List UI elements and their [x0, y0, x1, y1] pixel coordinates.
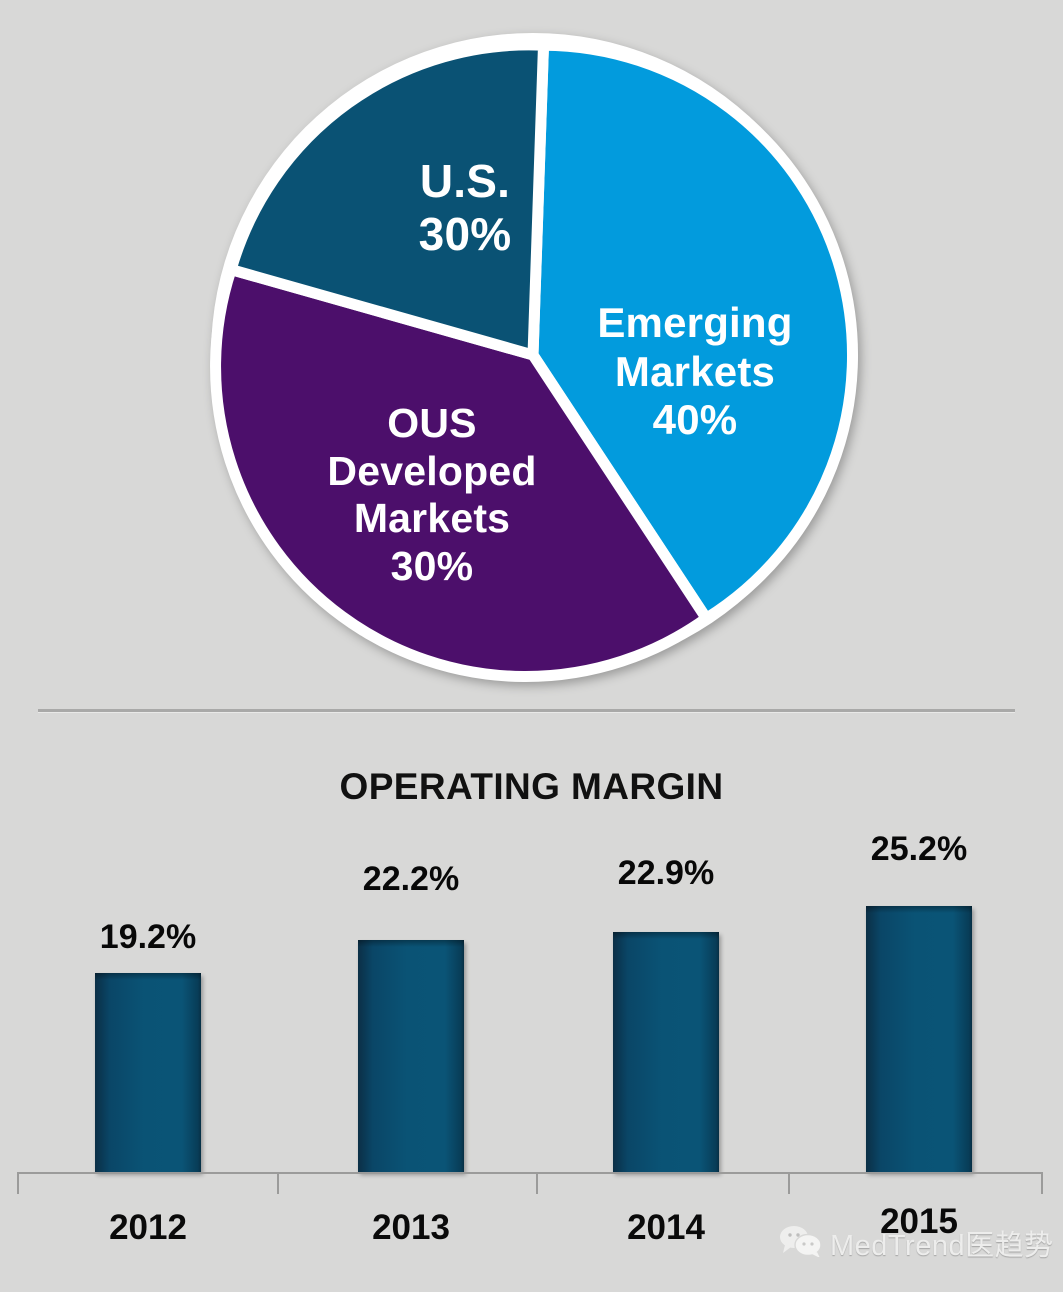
pie-label-emerging-line1: Emerging — [560, 299, 830, 348]
pie-label-us: U.S. 30% — [355, 155, 575, 262]
pie-label-ous-percent: 30% — [297, 543, 567, 591]
x-axis-label-2013: 2013 — [331, 1208, 491, 1248]
pie-label-us-percent: 30% — [355, 208, 575, 261]
pie-label-emerging-markets: Emerging Markets 40% — [560, 299, 830, 445]
x-axis-line — [17, 1172, 1043, 1174]
bar-value-2014: 22.9% — [586, 854, 746, 893]
x-axis-tick — [1041, 1172, 1043, 1194]
x-axis-tick — [536, 1172, 538, 1194]
bar-2014[interactable] — [613, 932, 719, 1172]
wechat-bubbles-icon — [779, 1225, 823, 1262]
x-axis-label-2014: 2014 — [586, 1208, 746, 1248]
pie-label-ous-line2: Developed — [297, 448, 567, 496]
bar-chart-plot: 19.2% 22.2% 22.9% 25.2% 2 — [0, 720, 1063, 1292]
x-axis-label-2012: 2012 — [68, 1208, 228, 1248]
pie-label-ous-line1: OUS — [297, 400, 567, 448]
bar-top-shade — [358, 940, 464, 947]
bar-2013[interactable] — [358, 940, 464, 1172]
bar-2012[interactable] — [95, 973, 201, 1172]
section-divider — [38, 709, 1015, 712]
x-axis-tick — [17, 1172, 19, 1194]
bar-value-2012: 19.2% — [68, 918, 228, 957]
pie-label-us-name: U.S. — [355, 155, 575, 208]
pie-label-emerging-line2: Markets — [560, 348, 830, 397]
watermark-text: MedTrend医趋势 — [830, 1222, 1054, 1264]
watermark: MedTrend医趋势 — [779, 1222, 1054, 1264]
bar-2015[interactable] — [866, 906, 972, 1172]
pie-label-emerging-percent: 40% — [560, 396, 830, 445]
infographic-page: U.S. 30% Emerging Markets 40% OUS Develo… — [0, 0, 1063, 1292]
bar-top-shade — [95, 973, 201, 980]
bar-top-shade — [866, 906, 972, 913]
bar-value-2013: 22.2% — [331, 860, 491, 899]
x-axis-tick — [788, 1172, 790, 1194]
pie-label-ous-line3: Markets — [297, 495, 567, 543]
x-axis-tick — [277, 1172, 279, 1194]
pie-label-ous-developed-markets: OUS Developed Markets 30% — [297, 400, 567, 590]
bar-top-shade — [613, 932, 719, 939]
pie-chart-section: U.S. 30% Emerging Markets 40% OUS Develo… — [0, 0, 1063, 700]
pie-chart: U.S. 30% Emerging Markets 40% OUS Develo… — [205, 27, 861, 683]
bar-chart-section: OPERATING MARGIN 19.2% 22.2% 22.9% 25.2% — [0, 720, 1063, 1292]
bar-value-2015: 25.2% — [839, 830, 999, 869]
